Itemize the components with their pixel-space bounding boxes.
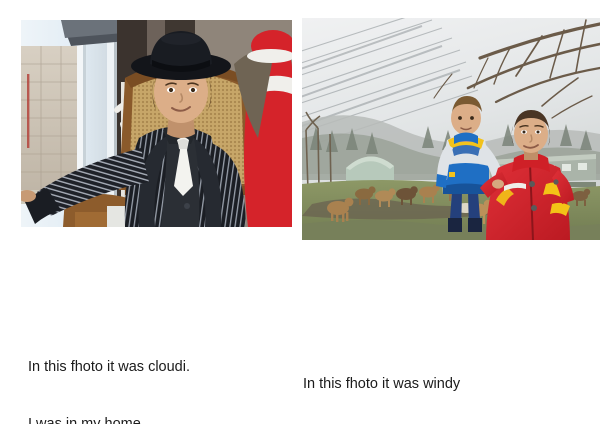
photo-boy-and-dad-mountain[interactable]: [302, 18, 600, 240]
caption-right: In this fhoto it was windy I was in the …: [303, 337, 460, 424]
caption-right-line-1: In this fhoto it was windy: [303, 375, 460, 394]
photo-boy-and-dad-mountain-image: [302, 18, 600, 240]
photo-story-page: In this fhoto it was cloudi. I was in my…: [0, 0, 600, 424]
photo-boy-in-suit-image: [21, 20, 292, 227]
caption-left-line-2: I was in my home.: [28, 415, 190, 424]
photo-boy-in-suit[interactable]: [21, 20, 292, 227]
caption-left: In this fhoto it was cloudi. I was in my…: [28, 320, 190, 424]
caption-left-line-1: In this fhoto it was cloudi.: [28, 358, 190, 377]
